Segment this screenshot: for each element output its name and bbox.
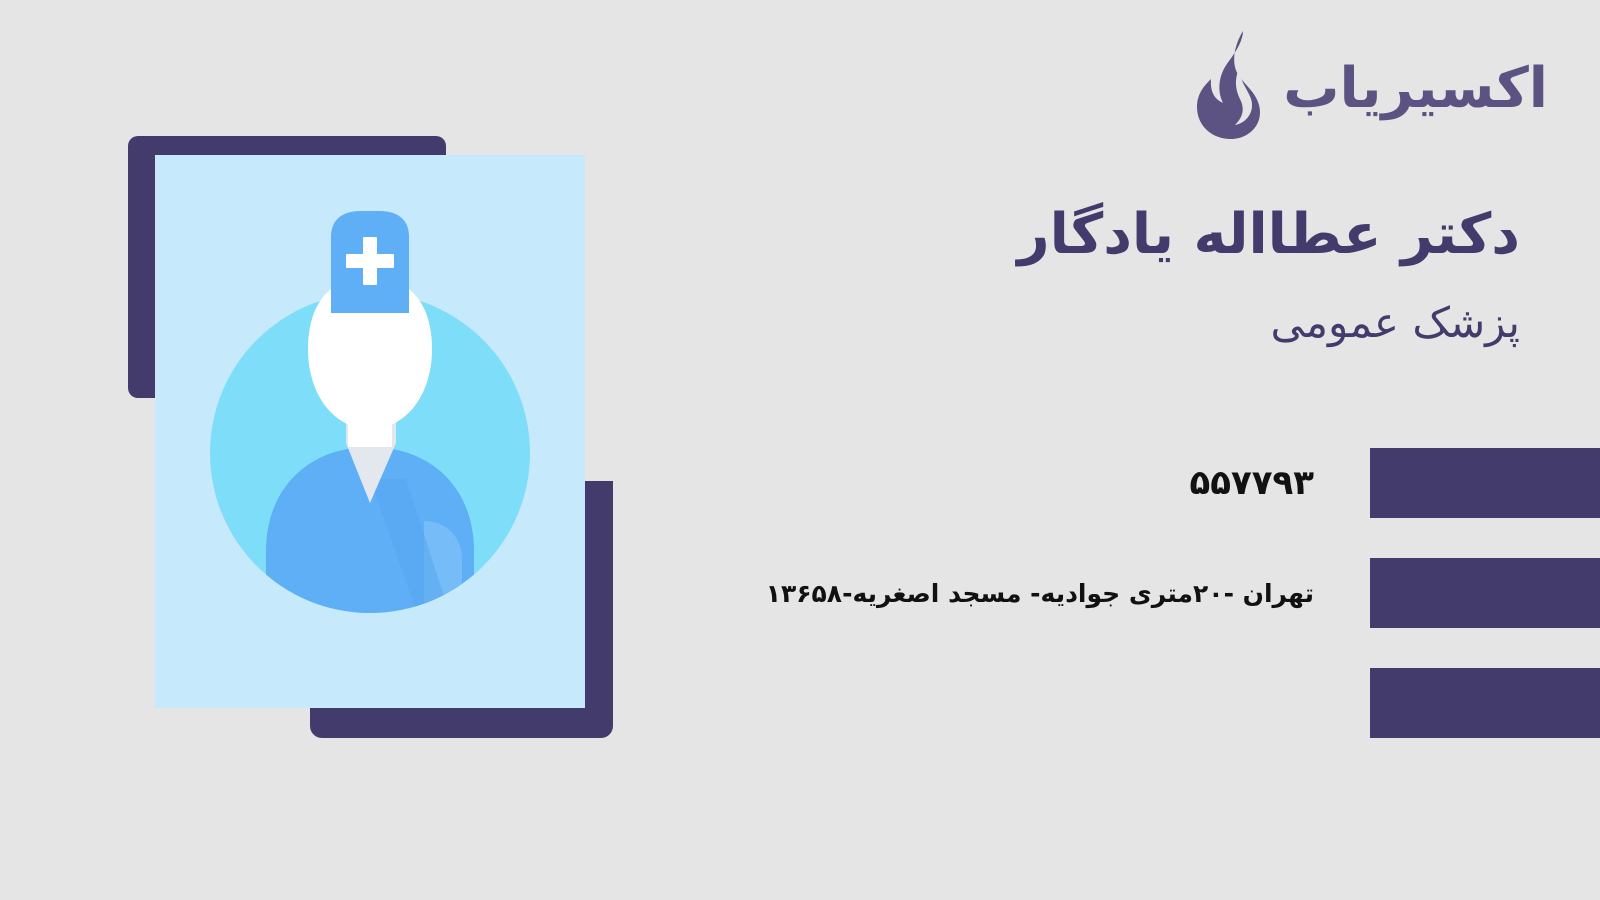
accent-bar-1	[1370, 448, 1600, 518]
doctor-address-value: تهران -۲۰متری جوادیه- مسجد اصغریه-۱۳۶۵۸	[766, 581, 1314, 606]
doctor-code-value: ۵۵۷۷۹۳	[1189, 466, 1314, 500]
doctor-name: دکتر عطااله یادگار	[800, 200, 1520, 270]
avatar-stage	[155, 155, 585, 708]
doctor-address-row: تهران -۲۰متری جوادیه- مسجد اصغریه-۱۳۶۵۸	[766, 558, 1314, 628]
doctor-illustration	[128, 136, 618, 740]
doctor-profile-card: اکسیریاب	[0, 0, 1600, 900]
doctor-info-block: دکتر عطااله یادگار پزشک عمومی	[800, 200, 1520, 351]
doctor-avatar-icon	[210, 203, 530, 623]
accent-bar-2	[1370, 558, 1600, 628]
doctor-photo-card	[155, 155, 585, 708]
doctor-code-row: ۵۵۷۷۹۳	[1189, 448, 1314, 518]
brand-wordmark: اکسیریاب	[1283, 61, 1548, 117]
brand-logo[interactable]: اکسیریاب	[1185, 26, 1548, 144]
flame-drop-icon	[1185, 29, 1277, 141]
accent-bar-3	[1370, 668, 1600, 738]
doctor-specialty: پزشک عمومی	[800, 296, 1520, 351]
